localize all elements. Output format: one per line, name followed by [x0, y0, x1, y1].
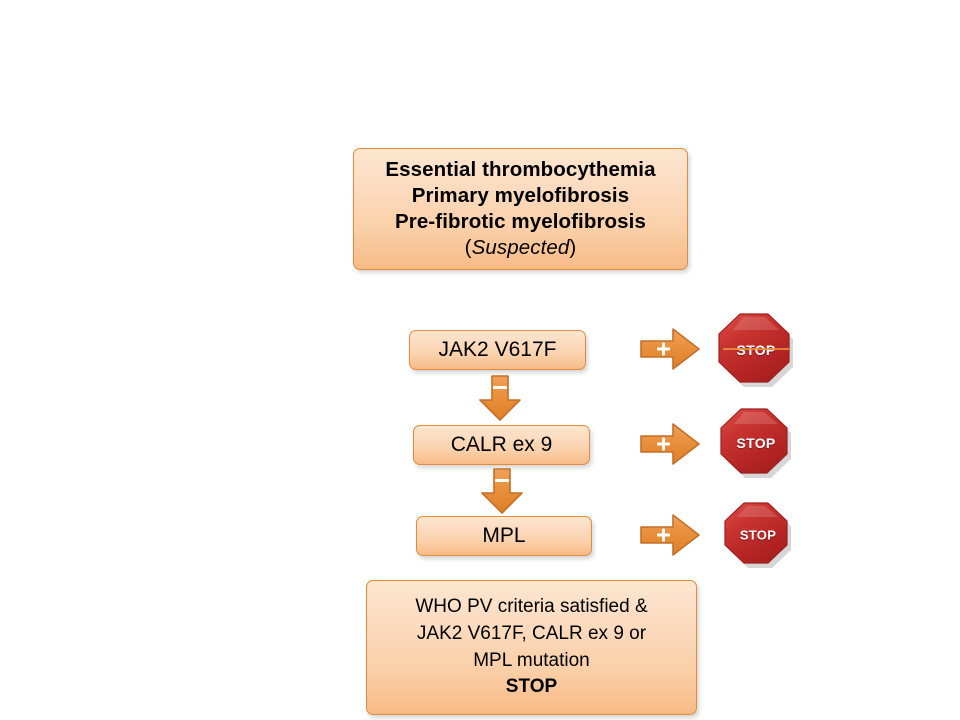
right-block-arrow-icon-1 — [639, 325, 701, 373]
diagram-canvas: Essential thrombocythemia Primary myelof… — [0, 0, 960, 720]
test-box-mpl[interactable]: MPL — [416, 516, 592, 556]
suspected-open-paren: ( — [465, 236, 472, 259]
minus-icon-1 — [493, 386, 507, 389]
stop-octagon-icon-2: STOP — [719, 407, 793, 479]
diagnosis-text-block: Essential thrombocythemia Primary myelof… — [385, 157, 655, 262]
final-outcome-text-block: WHO PV criteria satisfied & JAK2 V617F, … — [415, 594, 647, 702]
final-line-3: MPL mutation — [415, 648, 647, 675]
test-box-calr-label: CALR ex 9 — [451, 432, 553, 459]
right-block-arrow-icon-3 — [639, 511, 701, 559]
diagnosis-suspected-box: Essential thrombocythemia Primary myelof… — [353, 148, 688, 270]
down-block-arrow-icon-2 — [478, 467, 526, 515]
plus-icon-3 — [657, 529, 670, 542]
test-box-mpl-label: MPL — [482, 523, 525, 550]
diagnosis-line-3: Pre-fibrotic myelofibrosis — [385, 209, 655, 235]
minus-icon-2 — [495, 479, 509, 482]
suspected-word: Suspected — [472, 236, 570, 259]
diagnosis-line-2: Primary myelofibrosis — [385, 183, 655, 209]
right-block-arrow-icon-2 — [639, 420, 701, 468]
plus-icon-2 — [657, 438, 670, 451]
suspected-close-paren: ) — [569, 236, 576, 259]
test-box-jak2[interactable]: JAK2 V617F — [409, 330, 586, 370]
final-line-2: JAK2 V617F, CALR ex 9 or — [415, 621, 647, 648]
diagnosis-line-1: Essential thrombocythemia — [385, 157, 655, 183]
stop-octagon-icon-1: STOP — [717, 312, 795, 388]
final-line-1: WHO PV criteria satisfied & — [415, 594, 647, 621]
stop-octagon-icon-3: STOP — [723, 501, 793, 569]
final-stop-label: STOP — [415, 674, 647, 701]
diagnosis-suspected-line: (Suspected) — [385, 235, 655, 261]
test-box-jak2-label: JAK2 V617F — [439, 337, 557, 364]
down-block-arrow-icon-1 — [476, 374, 524, 422]
plus-icon-1 — [657, 343, 670, 356]
final-outcome-box: WHO PV criteria satisfied & JAK2 V617F, … — [366, 580, 697, 715]
test-box-calr[interactable]: CALR ex 9 — [413, 425, 590, 465]
